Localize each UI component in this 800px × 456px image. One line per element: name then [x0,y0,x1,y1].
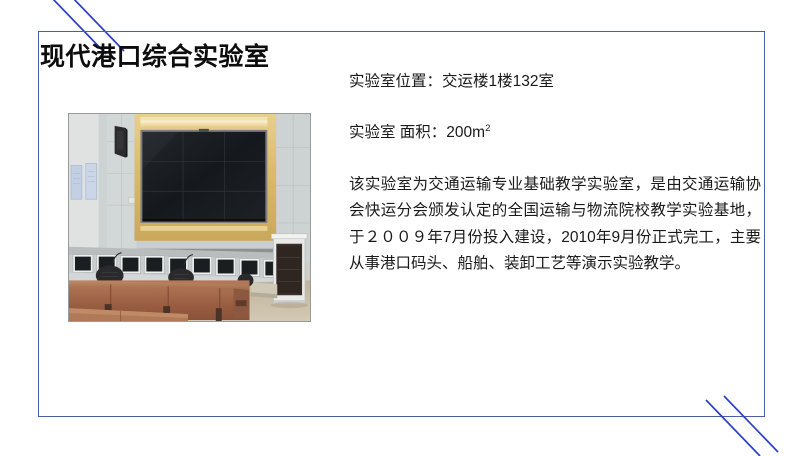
page-title: 现代港口综合实验室 [40,44,270,72]
laboratory-photo [68,113,311,322]
lab-location-line: 实验室位置：交运楼1楼132室 [349,70,761,93]
lab-area-line: 实验室 面积：200m2 [349,121,761,144]
lab-area-exponent: 2 [485,123,490,134]
lab-description-paragraph: 该实验室为交通运输专业基础教学实验室，是由交通运输协会快运分会颁发认定的全国运输… [349,172,761,279]
lab-info-text-column: 实验室位置：交运楼1楼132室 实验室 面积：200m2 该实验室为交通运输专业… [349,70,761,278]
lab-area-text: 实验室 面积：200m [349,124,485,141]
laboratory-photo-illustration [69,114,310,321]
